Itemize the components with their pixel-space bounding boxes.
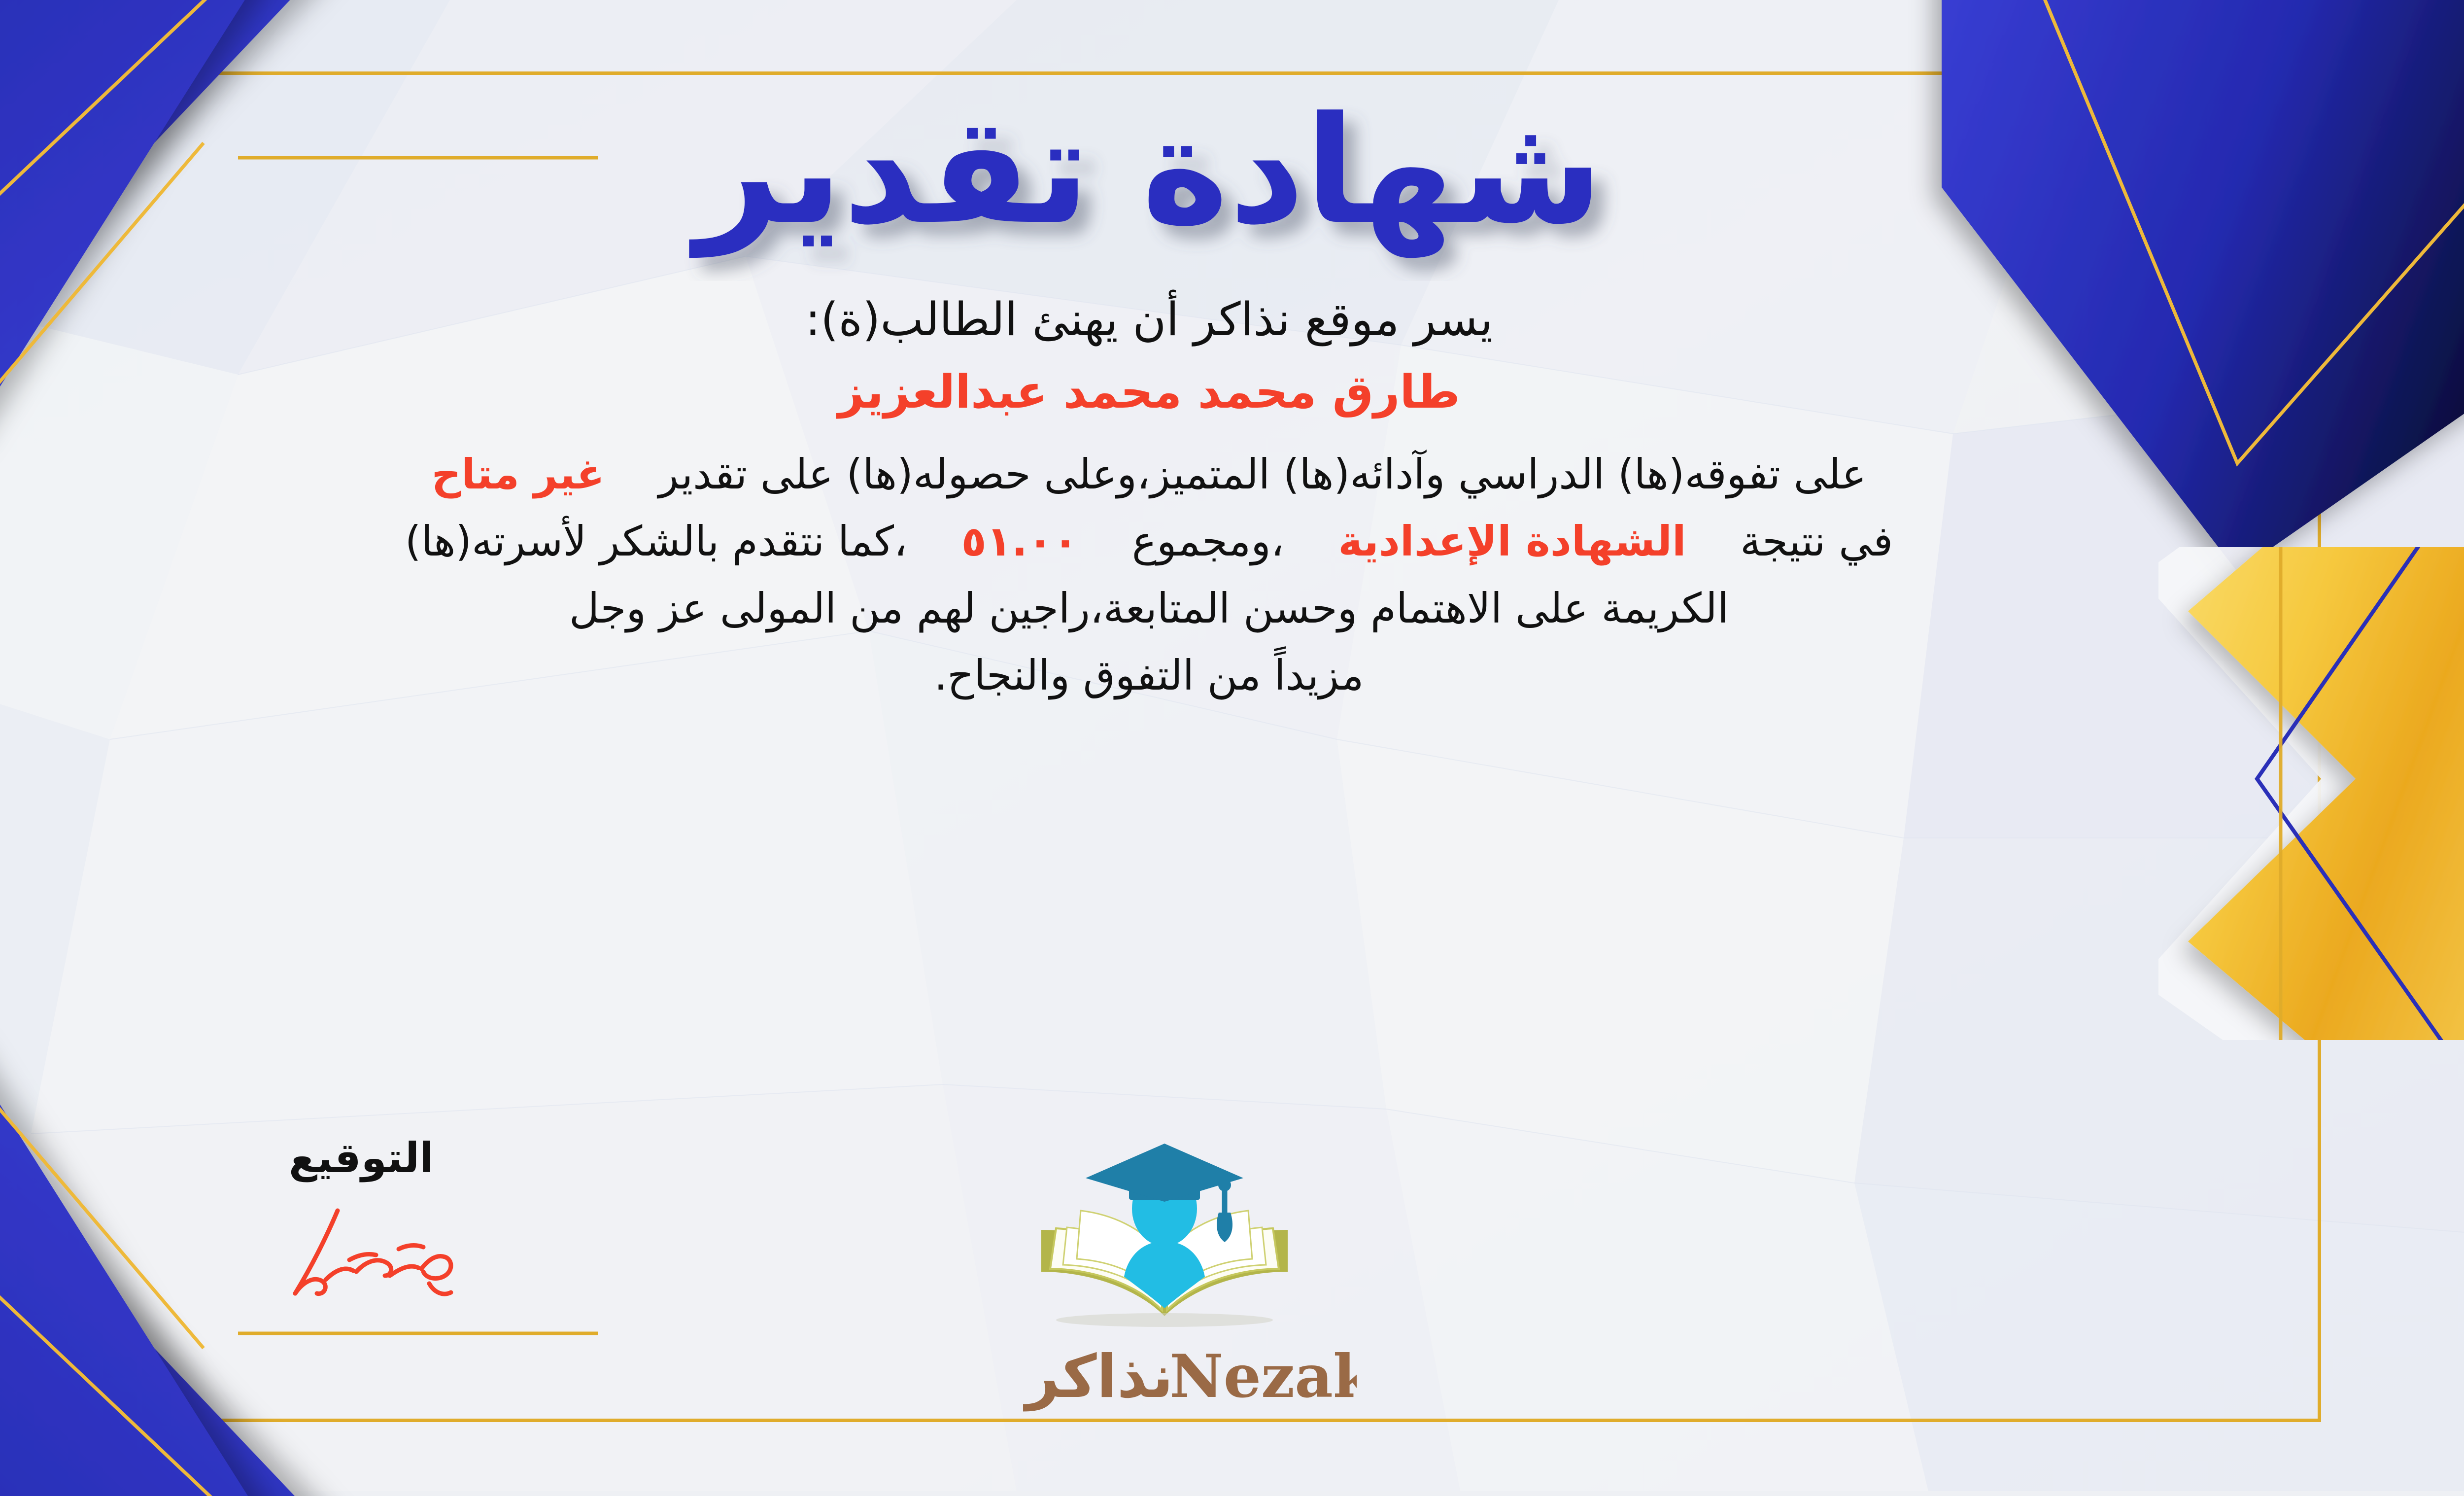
brand-wordmark: Nezakr نذاكر xyxy=(972,1332,1357,1421)
brand-logo: Nezakr نذاكر xyxy=(958,1124,1371,1421)
certificate-title-text: شهادة تقدير xyxy=(688,85,1603,259)
signature-block: التوقيع xyxy=(208,1134,514,1305)
student-name: طارق محمد محمد عبدالعزيز xyxy=(0,365,2307,420)
certificate-title-calligraphy: شهادة تقدير xyxy=(509,74,1790,281)
citation-line-4: مزيداً من التفوق والنجاح. xyxy=(0,642,2307,709)
graduate-book-icon xyxy=(1012,1124,1317,1336)
handwritten-signature-icon xyxy=(233,1202,489,1305)
citation-line-3: الكريمة على الاهتمام وحسن المتابعة،راجين… xyxy=(0,575,2307,642)
citation-line-2-prefix: في نتيجة xyxy=(1740,517,1893,565)
certificate-content: شهادة تقدير يسر موقع نذاكر أن يهنئ الطال… xyxy=(0,0,2464,1491)
greeting-line: يسر موقع نذاكر أن يهنئ الطالب(ة): xyxy=(0,291,2307,348)
citation-line-2: في نتيجة الشهادة الإعدادية ،ومجموع ٥١.٠٠… xyxy=(0,508,2307,575)
exam-name: الشهادة الإعدادية xyxy=(1338,517,1686,565)
certificate-footer: التوقيع xyxy=(0,1124,2464,1439)
citation-line-2-mid: ،ومجموع xyxy=(1132,517,1284,565)
certificate-body: يسر موقع نذاكر أن يهنئ الطالب(ة): طارق م… xyxy=(0,291,2307,709)
citation-line-1: على تفوقه(ها) الدراسي وآدائه(ها) المتميز… xyxy=(0,441,2307,508)
signature-mark-wrap xyxy=(208,1202,514,1305)
brand-arabic-text: نذاكر xyxy=(1023,1343,1173,1411)
brand-latin-text: Nezakr xyxy=(1169,1342,1357,1411)
citation-paragraph: على تفوقه(ها) الدراسي وآدائه(ها) المتميز… xyxy=(0,441,2307,709)
grade-value: غير متاح xyxy=(431,450,605,498)
citation-line-2-suffix: ،كما نتقدم بالشكر لأسرته(ها) xyxy=(405,517,907,565)
citation-line-1-text: على تفوقه(ها) الدراسي وآدائه(ها) المتميز… xyxy=(658,450,1866,498)
total-score: ٥١.٠٠ xyxy=(961,517,1078,565)
certificate-title-block: شهادة تقدير xyxy=(0,74,2464,281)
signature-label: التوقيع xyxy=(208,1134,514,1182)
